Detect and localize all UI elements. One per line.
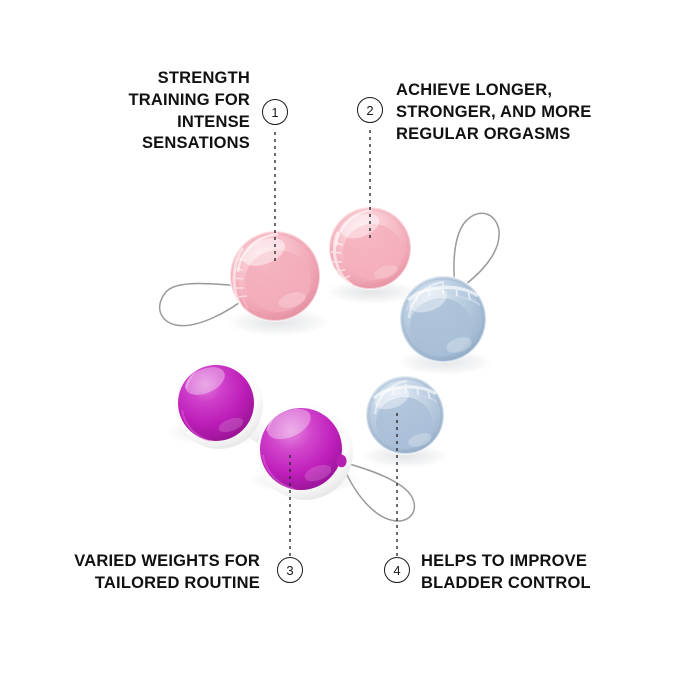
callout-marker-1[interactable]: 1	[262, 99, 288, 125]
purple-pair-retrieval-cord	[342, 462, 414, 521]
product-infographic: STRENGTH TRAINING FOR INTENSE SENSATIONS…	[0, 0, 679, 679]
pink-ball-right	[329, 207, 411, 289]
callout-marker-3-number: 3	[286, 563, 293, 578]
callout-marker-4-number: 4	[393, 563, 400, 578]
blue-ball-lower	[366, 376, 444, 454]
purple-ball-upper	[175, 358, 263, 449]
callout-text-3: VARIED WEIGHTS FOR TAILORED ROUTINE	[52, 551, 260, 595]
callout-text-2: ACHIEVE LONGER, STRONGER, AND MORE REGUL…	[396, 80, 596, 145]
blue-ball-upper	[400, 276, 486, 362]
callout-marker-4[interactable]: 4	[384, 557, 410, 583]
callout-text-1: STRENGTH TRAINING FOR INTENSE SENSATIONS	[92, 68, 250, 155]
callout-marker-2-number: 2	[366, 103, 373, 118]
callout-text-4: HELPS TO IMPROVE BLADDER CONTROL	[421, 551, 621, 595]
callout-marker-1-number: 1	[271, 105, 278, 120]
purple-ball-lower	[257, 398, 353, 500]
callout-marker-2[interactable]: 2	[357, 97, 383, 123]
callout-marker-3[interactable]: 3	[277, 557, 303, 583]
blue-ball-upper-retrieval-cord	[454, 213, 499, 290]
